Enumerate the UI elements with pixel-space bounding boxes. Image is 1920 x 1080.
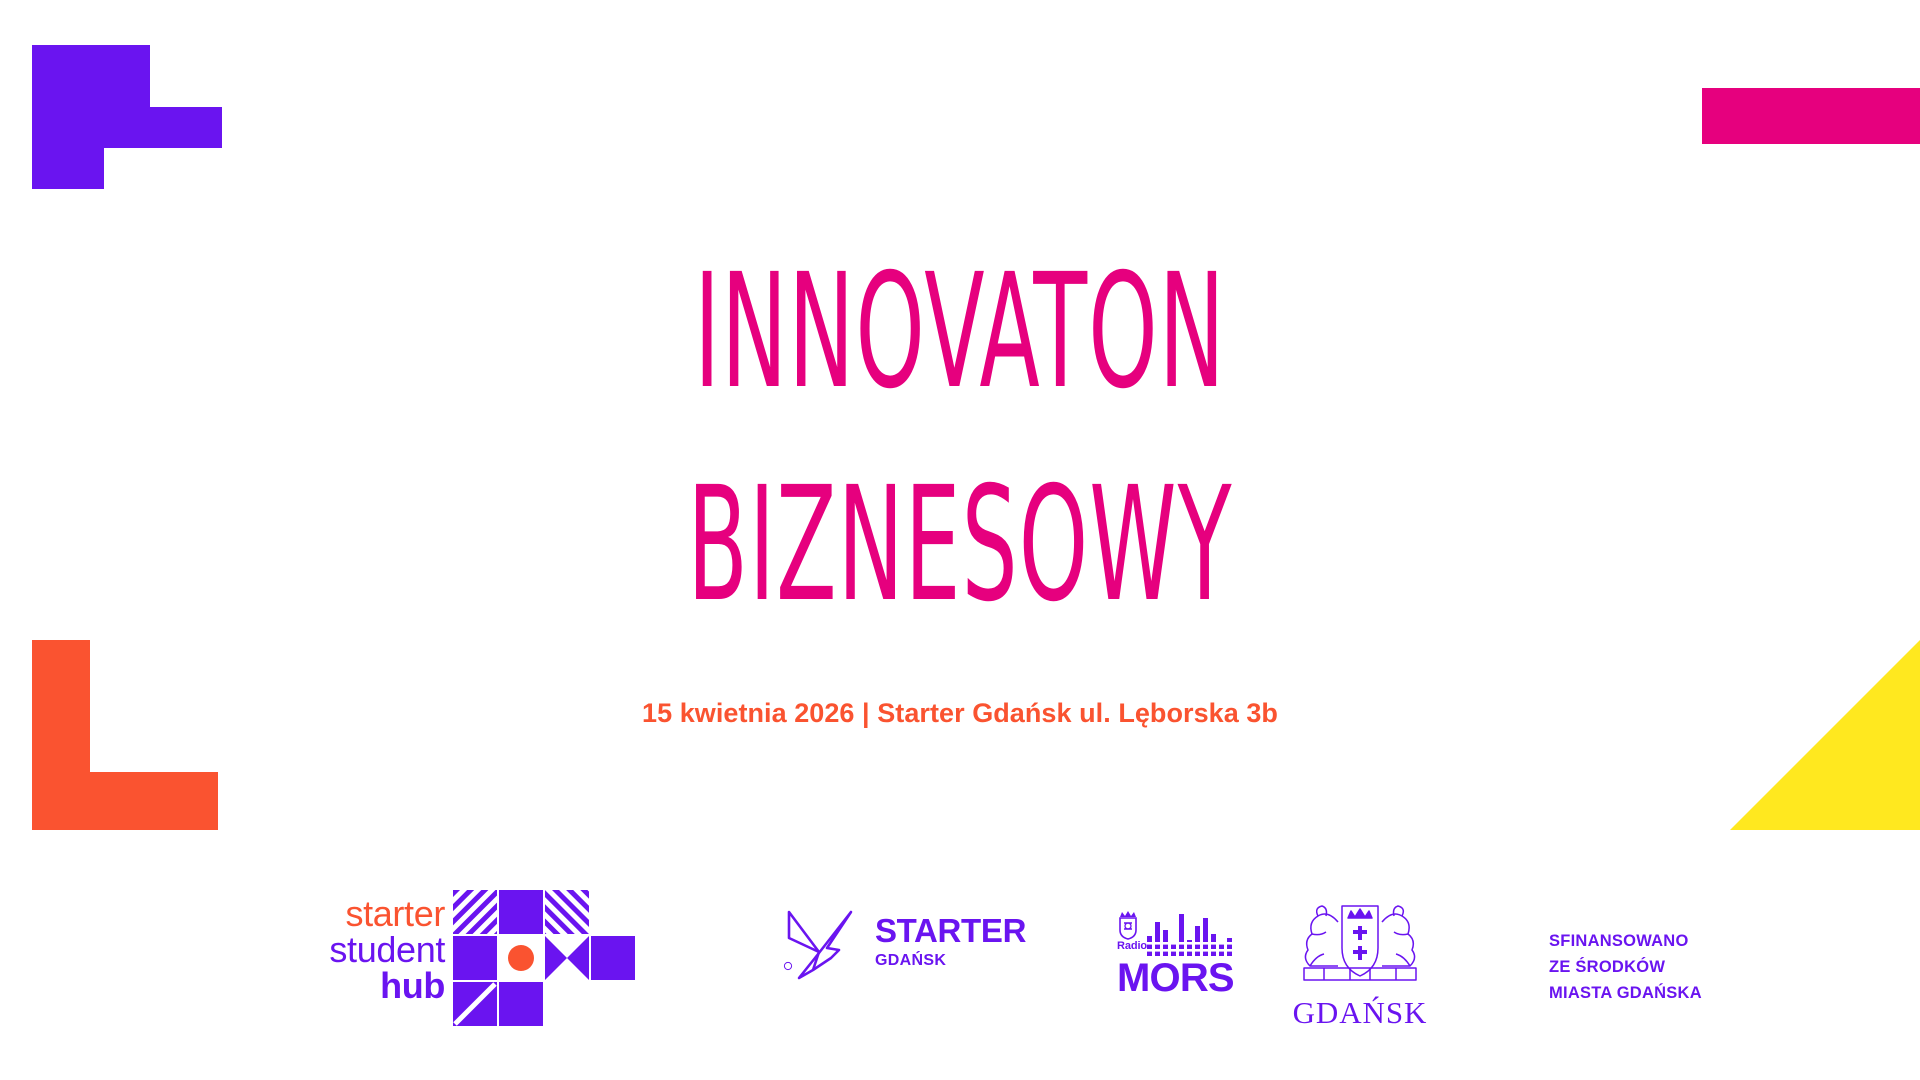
poster-title: INNOVATON BIZNESOWY <box>0 255 1920 623</box>
student-hub-wordmark: starter student hub <box>255 896 445 1004</box>
funding-line-2: ZE ŚRODKÓW <box>1549 954 1702 980</box>
funding-statement: SFINANSOWANO ZE ŚRODKÓW MIASTA GDAŃSKA <box>1549 928 1702 1006</box>
radio-mors-main-text: MORS <box>1117 960 1234 996</box>
radio-mors-equalizer-icon <box>1147 912 1232 961</box>
logo-gdansk-city: GDAŃSK <box>1290 896 1430 1031</box>
starter-gdansk-wordmark: STARTER GDAŃSK <box>875 914 1026 970</box>
bar-top-right-decoration <box>1702 88 1920 144</box>
gdansk-coat-of-arms-icon <box>1290 896 1430 993</box>
sponsor-logo-row: starter student hub <box>0 890 1920 1060</box>
funding-line-1: SFINANSOWANO <box>1549 928 1702 954</box>
event-date-venue: 15 kwietnia 2026 | Starter Gdańsk ul. Lę… <box>0 698 1920 729</box>
triangle-bottom-right-decoration <box>1730 640 1920 830</box>
title-line-1: INNOVATON <box>365 255 1555 410</box>
logo-radio-mors: Radio <box>1117 910 1234 996</box>
funding-line-3: MIASTA GDAŃSKA <box>1549 980 1702 1006</box>
starter-gdansk-main: STARTER <box>875 914 1026 947</box>
starter-gdansk-sub: GDAŃSK <box>875 952 1026 970</box>
l-shape-bottom-left-decoration <box>32 640 218 830</box>
stepped-block-top-left-decoration <box>32 45 222 189</box>
poster-canvas: INNOVATON BIZNESOWY 15 kwietnia 2026 | S… <box>0 0 1920 1080</box>
title-line-2: BIZNESOWY <box>365 468 1555 623</box>
logo-starter-student-hub: starter student hub <box>255 890 645 1040</box>
starter-bird-icon <box>783 908 861 991</box>
student-hub-line-1: starter <box>255 896 445 932</box>
student-hub-line-2: student <box>255 932 445 968</box>
student-hub-grid-mark-icon <box>453 890 639 1033</box>
gdansk-wordmark: GDAŃSK <box>1290 995 1430 1031</box>
student-hub-line-3: hub <box>255 968 445 1004</box>
radio-mors-small-text: Radio <box>1117 940 1147 952</box>
